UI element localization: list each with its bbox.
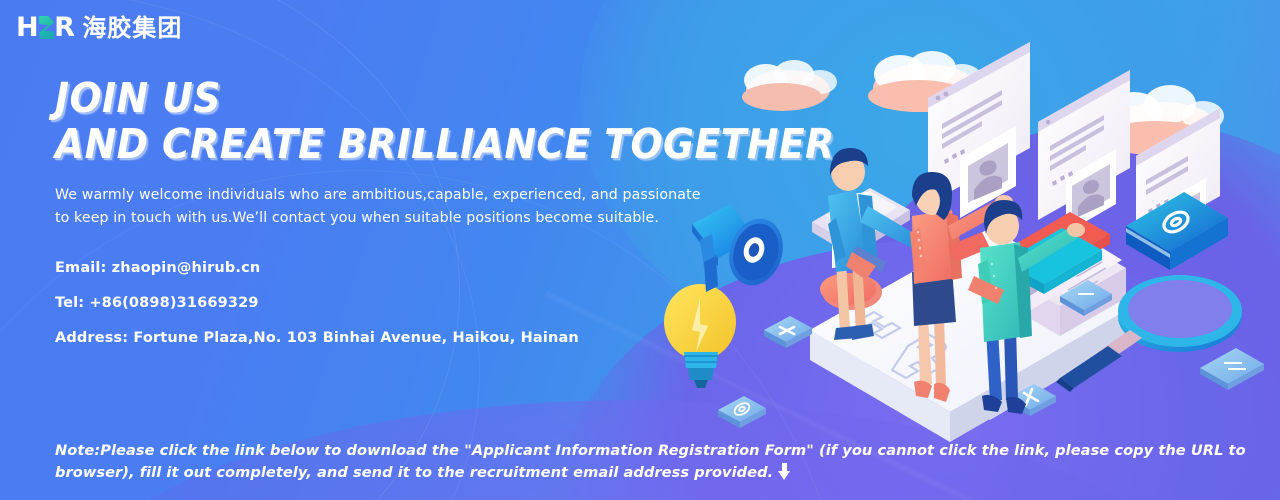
logo-mark: H R (16, 14, 75, 41)
headline-line-1: JOIN US (55, 74, 221, 122)
contact-tel[interactable]: Tel: +86(0898)31669329 (55, 295, 715, 311)
headline-line-2: AND CREATE BRILLIANCE TOGETHER (55, 122, 662, 168)
page-title: JOIN US AND CREATE BRILLIANCE TOGETHER (55, 76, 662, 168)
copy-block: JOIN US AND CREATE BRILLIANCE TOGETHER W… (55, 76, 715, 346)
logo-letter-r: R (54, 14, 75, 41)
logo-letter-h: H (16, 14, 39, 41)
resume-card-icon (1038, 70, 1130, 233)
at-tile-icon (718, 396, 766, 428)
logo-chinese-name: 海胶集团 (82, 16, 182, 40)
document-tile-icon (1200, 348, 1264, 390)
contact-email[interactable]: Email: zhaopin@hirub.cn (55, 260, 715, 276)
close-tile-icon (764, 316, 812, 348)
banner-root: H R 海胶集团 JOIN US AND CREATE BRILLIANCE T… (0, 0, 1280, 500)
contact-address: Address: Fortune Plaza,No. 103 Binhai Av… (55, 330, 715, 346)
brand-logo[interactable]: H R 海胶集团 (16, 14, 182, 41)
swoosh-icon (38, 15, 55, 40)
contact-list: Email: zhaopin@hirub.cn Tel: +86(0898)31… (55, 260, 715, 346)
hero-illustration (660, 0, 1280, 500)
download-arrow-icon[interactable] (778, 463, 791, 480)
cloud-icon (742, 60, 837, 111)
download-note: Note:Please click the link below to down… (55, 440, 1255, 484)
intro-paragraph: We warmly welcome individuals who are am… (55, 184, 703, 230)
download-note-text: Note:Please click the link below to down… (55, 442, 1246, 481)
